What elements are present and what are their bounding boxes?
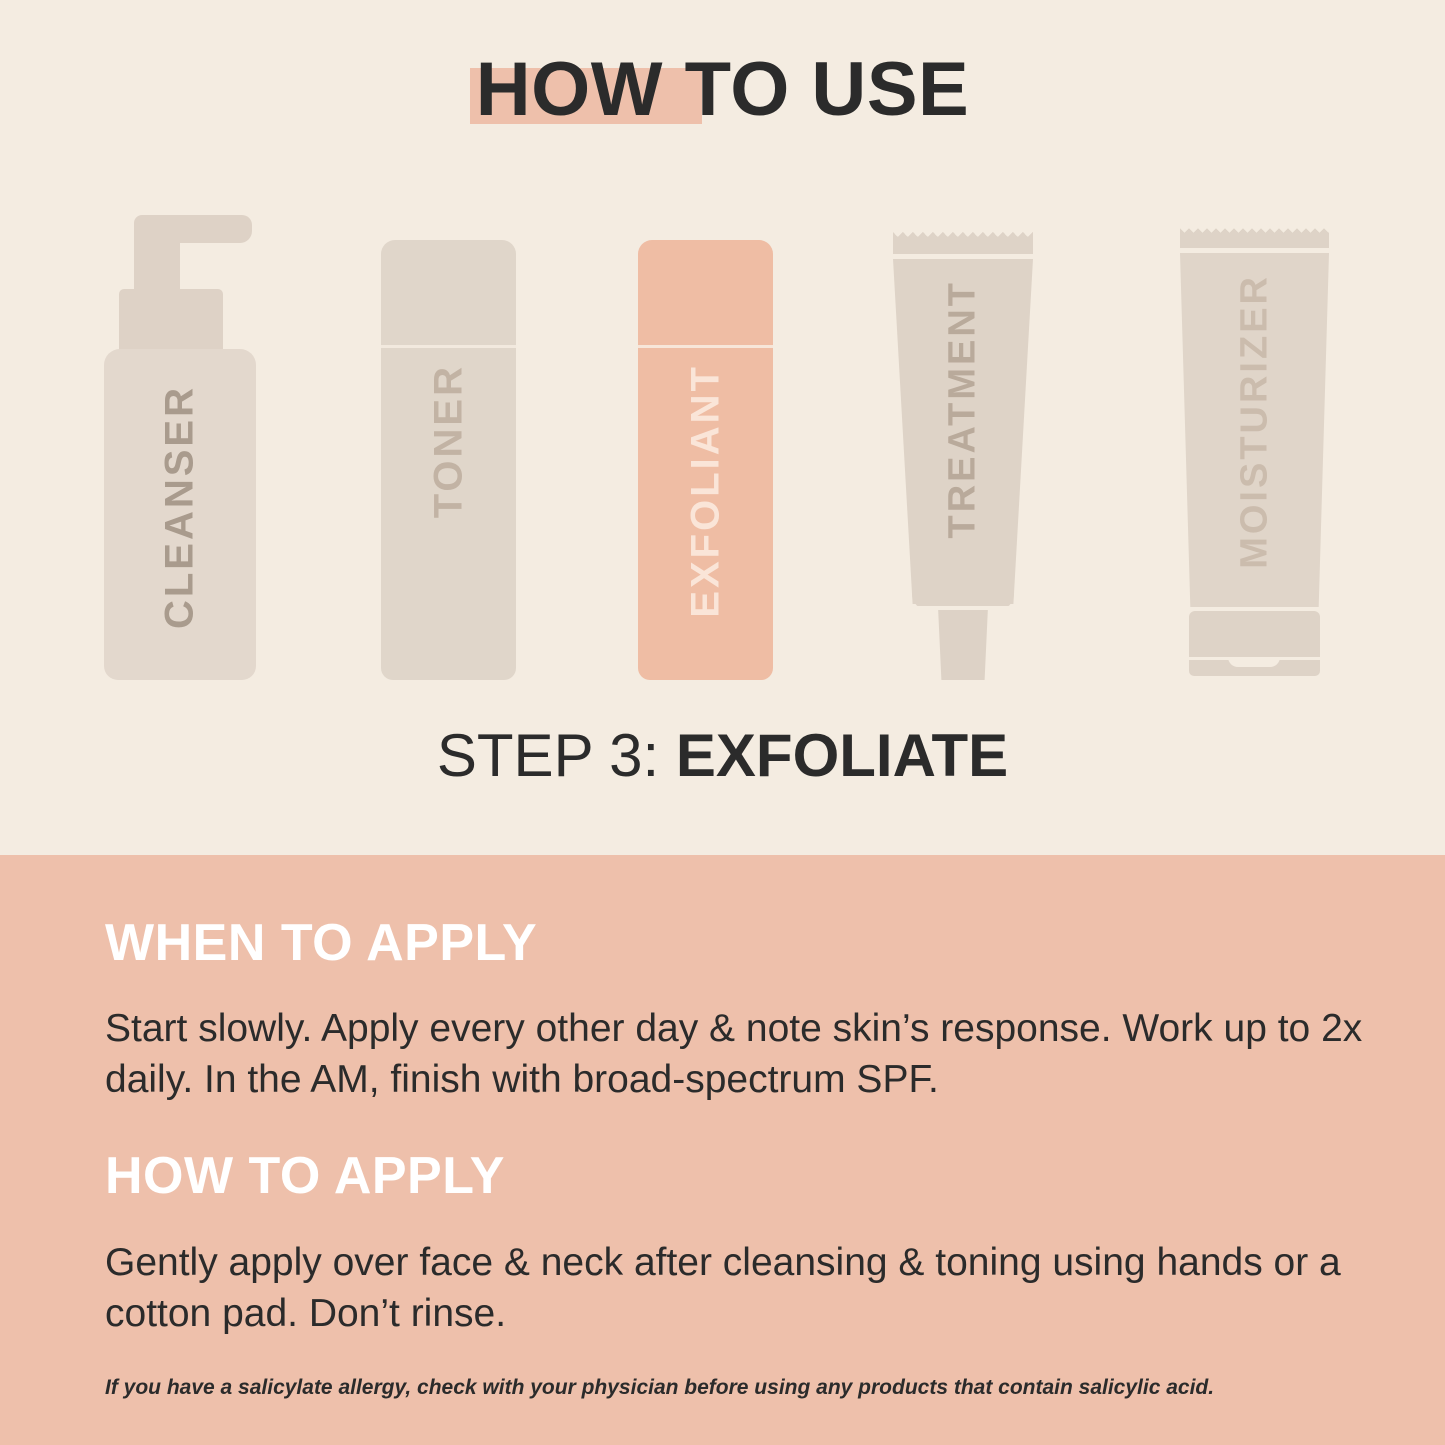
infographic-page: HOW TO USE CLEANSER TONER <box>0 0 1445 1445</box>
moisturizer-cap <box>1189 611 1320 663</box>
product-toner[interactable]: TONER <box>381 240 516 680</box>
page-title-text: HOW TO USE <box>476 52 969 128</box>
step-name: EXFOLIATE <box>676 722 1008 789</box>
top-section: HOW TO USE CLEANSER TONER <box>0 0 1445 855</box>
pump-collar-shape <box>119 289 223 355</box>
product-label-treatment: TREATMENT <box>942 280 985 539</box>
exfoliant-cap-divider <box>638 345 773 348</box>
section-heading-how-to-apply: HOW TO APPLY <box>105 1150 505 1202</box>
section-body-when-to-apply: Start slowly. Apply every other day & no… <box>105 1003 1365 1106</box>
toner-cap-divider <box>381 345 516 348</box>
product-label-cleanser: CLEANSER <box>158 385 203 629</box>
section-body-how-to-apply: Gently apply over face & neck after clea… <box>105 1237 1365 1340</box>
bottom-section: WHEN TO APPLY Start slowly. Apply every … <box>0 855 1445 1445</box>
moisturizer-seal-gap <box>1180 248 1329 253</box>
moisturizer-crimp-zigzag <box>1180 228 1329 236</box>
product-label-toner: TONER <box>426 364 471 518</box>
moisturizer-cap-notch <box>1228 657 1280 667</box>
step-prefix: STEP 3: <box>437 722 676 789</box>
treatment-crimp-zigzag <box>893 232 1033 241</box>
page-title: HOW TO USE <box>0 52 1445 128</box>
disclaimer-text: If you have a salicylate allergy, check … <box>105 1374 1375 1401</box>
product-shelf: CLEANSER TONER EXFOLIANT <box>0 200 1445 680</box>
pump-stem-shape <box>134 235 180 297</box>
title-word-rest: TO USE <box>663 47 969 132</box>
product-moisturizer[interactable]: MOISTURIZER <box>1172 228 1337 680</box>
title-word-how: HOW <box>476 47 663 132</box>
product-treatment[interactable]: TREATMENT <box>888 232 1038 680</box>
step-heading: STEP 3: EXFOLIATE <box>0 726 1445 786</box>
section-heading-when-to-apply: WHEN TO APPLY <box>105 917 537 969</box>
treatment-seal-gap <box>893 254 1033 259</box>
product-exfoliant[interactable]: EXFOLIANT <box>638 240 773 680</box>
product-label-moisturizer: MOISTURIZER <box>1233 274 1276 569</box>
product-label-exfoliant: EXFOLIANT <box>683 364 728 618</box>
step-heading-text: STEP 3: EXFOLIATE <box>437 726 1008 786</box>
product-cleanser[interactable]: CLEANSER <box>104 215 256 680</box>
treatment-nozzle <box>936 610 990 680</box>
cleanser-bottle-body: CLEANSER <box>104 349 256 680</box>
